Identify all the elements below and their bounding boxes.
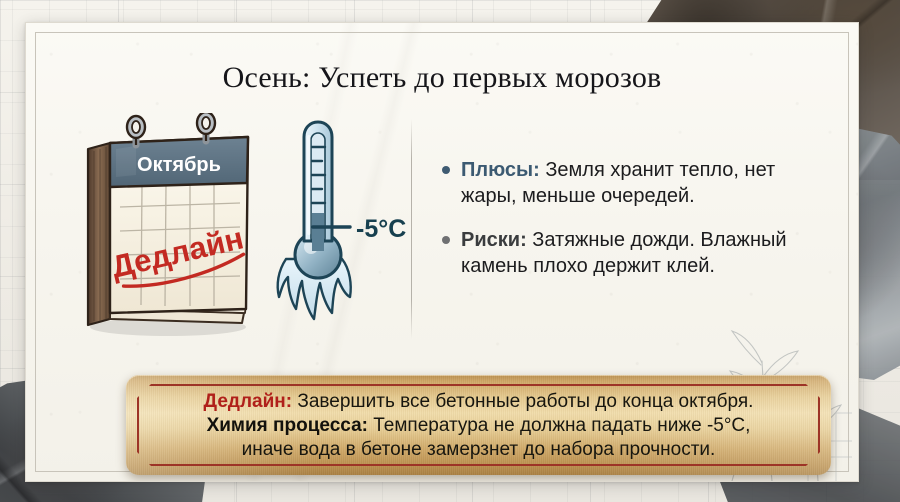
bullet-dot-icon — [442, 236, 450, 244]
list-item: Риски: Затяжные дожди. Влажный камень пл… — [442, 227, 818, 279]
slide-root: Осень: Успеть до первых морозов — [0, 0, 900, 502]
thermometer-icon: -5°C — [278, 122, 407, 319]
banner-label-chemistry: Химия процесса: — [207, 415, 368, 436]
banner-line-3: иначе вода в бетоне замерзнет до набора … — [152, 438, 805, 461]
calendar-month-label: Октябрь — [137, 154, 221, 176]
deadline-banner: Дедлайн: Завершить все бетонные работы д… — [126, 375, 831, 475]
illustration-svg: Октябрь Дедлайн — [66, 113, 411, 353]
calendar-icon: Октябрь Дедлайн — [88, 113, 249, 336]
bullet-text: Риски: Затяжные дожди. Влажный камень пл… — [461, 227, 818, 279]
banner-line-2: Химия процесса: Температура не должна па… — [152, 414, 805, 437]
content-card: Осень: Успеть до первых морозов — [25, 22, 859, 482]
bullet-list: Плюсы: Земля хранит тепло, нет жары, мен… — [412, 113, 818, 297]
bullet-label: Плюсы: — [461, 159, 540, 181]
page-title: Осень: Успеть до первых морозов — [26, 61, 858, 95]
illustration-group: Октябрь Дедлайн — [66, 113, 411, 353]
content-row: Октябрь Дедлайн — [66, 113, 818, 353]
banner-label-deadline: Дедлайн: — [204, 391, 293, 412]
bullet-dot-icon — [442, 166, 450, 174]
list-item: Плюсы: Земля хранит тепло, нет жары, мен… — [442, 157, 818, 209]
banner-line-1: Дедлайн: Завершить все бетонные работы д… — [152, 390, 805, 413]
banner-text: Дедлайн: Завершить все бетонные работы д… — [152, 390, 805, 462]
banner-body-1: Завершить все бетонные работы до конца о… — [292, 391, 753, 412]
banner-body-2: Температура не должна падать ниже -5°C, — [368, 415, 750, 436]
thermometer-reading-label: -5°C — [356, 215, 406, 243]
bullet-label: Риски: — [461, 229, 527, 251]
bullet-text: Плюсы: Земля хранит тепло, нет жары, мен… — [461, 157, 818, 209]
